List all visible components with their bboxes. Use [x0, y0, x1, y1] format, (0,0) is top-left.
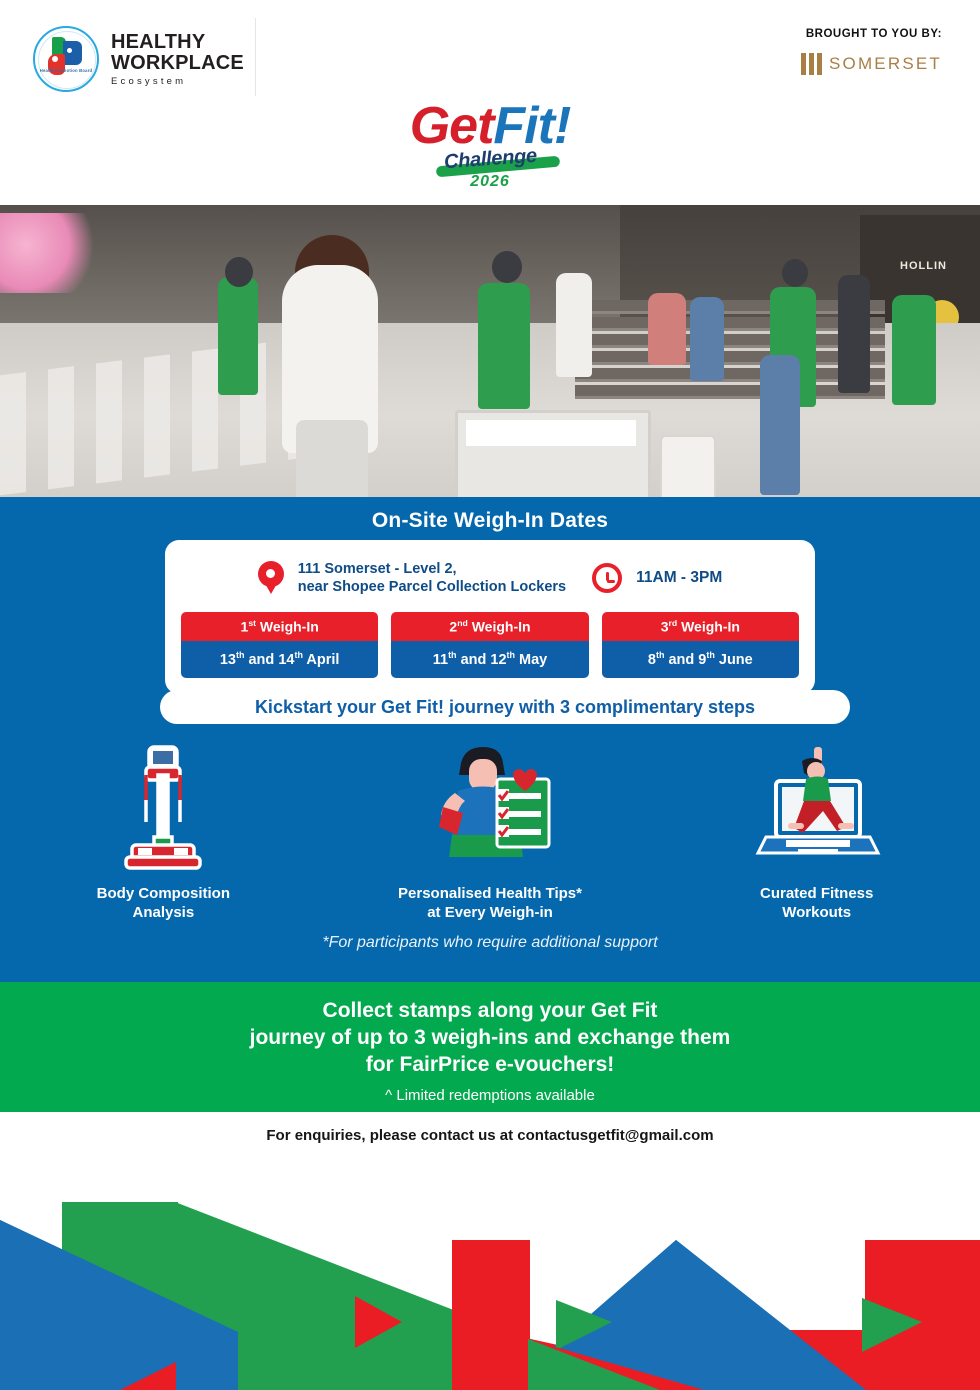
- weigh-in-time: 11AM - 3PM: [636, 569, 722, 587]
- complimentary-steps: Body Composition Analysis: [0, 745, 980, 922]
- step-2-caption-line-1: Personalised Health Tips*: [327, 884, 654, 903]
- weigh-in-item-3: 3rd Weigh-In 8th and 9th June: [602, 612, 799, 678]
- body-composition-analyzer-icon: [120, 745, 206, 870]
- getfit-wordmark: GetFit!: [0, 100, 980, 152]
- rewards-headline: Collect stamps along your Get Fit journe…: [0, 982, 980, 1078]
- rewards-line-1: Collect stamps along your Get Fit: [0, 997, 980, 1024]
- weigh-in-2-label: 2nd Weigh-In: [391, 612, 588, 641]
- event-photo: HOLLIN GetFit! Body Co: [0, 205, 980, 545]
- somerset-wordmark: SOMERSET: [829, 54, 942, 74]
- steps-footnote: *For participants who require additional…: [0, 934, 980, 952]
- address-line-1: 111 Somerset - Level 2,: [298, 560, 566, 578]
- step-1-caption-line-2: Analysis: [0, 903, 327, 922]
- section-title: On-Site Weigh-In Dates: [0, 509, 980, 533]
- kickstart-banner-text: Kickstart your Get Fit! journey with 3 c…: [255, 697, 755, 718]
- address-line-2: near Shopee Parcel Collection Lockers: [298, 578, 566, 596]
- step-body-composition: Body Composition Analysis: [0, 745, 327, 922]
- health-promotion-board-icon: Health Promotion Board: [33, 26, 99, 92]
- rewards-disclaimer: ^ Limited redemptions available: [0, 1087, 980, 1104]
- sponsor-block: BROUGHT TO YOU BY: SOMERSET: [801, 28, 942, 75]
- weigh-in-1-label: 1st Weigh-In: [181, 612, 378, 641]
- step-health-tips: Personalised Health Tips* at Every Weigh…: [327, 745, 654, 922]
- rewards-section: Collect stamps along your Get Fit journe…: [0, 982, 980, 1112]
- getfit-challenge-swoosh: Challenge: [444, 148, 537, 171]
- hpb-line-3: Ecosystem: [111, 76, 244, 87]
- weigh-in-3-label: 3rd Weigh-In: [602, 612, 799, 641]
- hpb-line-2: WORKPLACE: [111, 53, 244, 74]
- health-checklist-icon: [425, 745, 555, 870]
- shop-sign-text: HOLLIN: [900, 260, 947, 272]
- hpb-wordmark: HEALTHY WORKPLACE Ecosystem: [111, 32, 244, 87]
- geometric-triangles: [0, 1180, 980, 1390]
- weigh-in-2-dates: 11th and 12th May: [391, 641, 588, 679]
- rewards-line-3: for FairPrice e-vouchers!: [0, 1051, 980, 1078]
- step-3-caption-line-1: Curated Fitness: [653, 884, 980, 903]
- poster-header: Health Promotion Board HEALTHY WORKPLACE…: [0, 0, 980, 205]
- hpb-micro-text: Health Promotion Board: [35, 68, 97, 73]
- weigh-in-card: 111 Somerset - Level 2, near Shopee Parc…: [165, 540, 815, 694]
- rewards-line-2: journey of up to 3 weigh-ins and exchang…: [0, 1024, 980, 1051]
- location-pin-icon: [258, 561, 284, 595]
- contact-line: For enquiries, please contact us at cont…: [0, 1127, 980, 1144]
- weigh-in-item-2: 2nd Weigh-In 11th and 12th May: [391, 612, 588, 678]
- step-3-caption-line-2: Workouts: [653, 903, 980, 922]
- getfit-get-text: Get: [410, 97, 494, 155]
- weigh-in-item-1: 1st Weigh-In 13th and 14th April: [181, 612, 378, 678]
- footer-pattern: [0, 1180, 980, 1390]
- step-1-caption-line-1: Body Composition: [0, 884, 327, 903]
- hpb-line-1: HEALTHY: [111, 32, 244, 53]
- somerset-bars-icon: [801, 53, 822, 75]
- weigh-in-1-dates: 13th and 14th April: [181, 641, 378, 679]
- getfit-year-text: 2026: [0, 173, 980, 191]
- weigh-in-3-dates: 8th and 9th June: [602, 641, 799, 679]
- brought-to-you-by-label: BROUGHT TO YOU BY:: [801, 28, 942, 40]
- weigh-in-list: 1st Weigh-In 13th and 14th April 2nd Wei…: [181, 612, 799, 678]
- weigh-in-section: On-Site Weigh-In Dates 111 Somerset - Le…: [0, 497, 980, 982]
- laptop-yoga-icon: [752, 745, 882, 870]
- clock-icon: [592, 563, 622, 593]
- hpb-logo: Health Promotion Board HEALTHY WORKPLACE…: [33, 26, 244, 92]
- location-address: 111 Somerset - Level 2, near Shopee Parc…: [298, 560, 566, 596]
- somerset-logo: SOMERSET: [801, 53, 942, 75]
- step-fitness-workouts: Curated Fitness Workouts: [653, 745, 980, 922]
- step-2-caption-line-2: at Every Weigh-in: [327, 903, 654, 922]
- header-divider: [255, 18, 256, 96]
- poster: Health Promotion Board HEALTHY WORKPLACE…: [0, 0, 980, 1390]
- getfit-challenge-logo: GetFit! Challenge 2026: [0, 100, 980, 191]
- kickstart-banner: Kickstart your Get Fit! journey with 3 c…: [160, 690, 850, 724]
